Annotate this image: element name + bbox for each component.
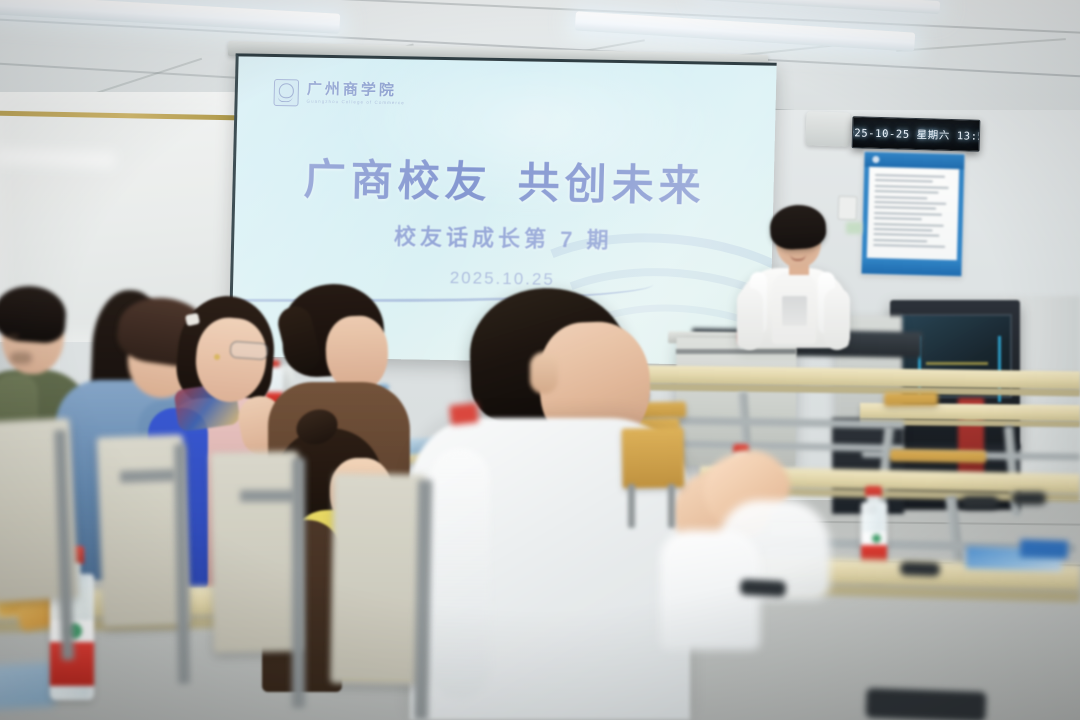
slide-title-left: 广商校友 [303, 156, 492, 206]
blue-item [1020, 539, 1069, 559]
facial-hair [10, 352, 32, 364]
desk-foot [740, 579, 787, 597]
wall-sign [846, 222, 862, 234]
slide-title-right: 共创未来 [517, 159, 706, 209]
wooden-chair-seat [890, 449, 986, 463]
bottle-logo [872, 534, 881, 543]
presenter-arm [824, 288, 850, 350]
desk-foot [866, 688, 987, 720]
wooden-chair-back [884, 392, 938, 406]
wall-poster [860, 151, 965, 278]
slide-title: 广商校友共创未来 [235, 144, 774, 214]
chair-back [330, 473, 426, 685]
desk-foot [962, 496, 998, 509]
poster-border [862, 167, 869, 258]
poster-border [957, 169, 964, 260]
blue-item [0, 662, 55, 710]
chair-back [210, 451, 301, 653]
led-clock-text: 2025-10-25 星期六 13:54 [852, 124, 981, 143]
clock-bracket [805, 111, 850, 147]
school-name-cn: 广州商学院 [307, 82, 406, 99]
classroom-photo: 广州商学院 Guangzhou College of Commerce 广商校友… [0, 0, 1080, 720]
ear [530, 352, 558, 394]
wooden-chair [621, 427, 684, 488]
desk-foot [1012, 492, 1046, 505]
chair-leg [628, 484, 635, 528]
presenter-hair [769, 204, 827, 251]
chair-leg [668, 484, 675, 528]
desk-foot [900, 561, 940, 576]
shirt-fold [430, 448, 490, 698]
led-clock-display: 2025-10-25 星期六 13:54 [852, 116, 981, 152]
chair-arm [120, 469, 176, 483]
school-name-en: Guangzhou College of Commerce [307, 100, 405, 106]
school-crest-icon [273, 79, 299, 106]
poster-footer [861, 258, 961, 277]
wall-socket [838, 196, 858, 221]
presenter-tshirt-print [782, 296, 807, 326]
ceiling-rib [896, 38, 1066, 52]
cabinet-cable [926, 362, 988, 365]
eyeglasses [229, 341, 268, 361]
red-accent [449, 403, 479, 426]
presenter-arm [737, 288, 763, 350]
lectern-trim [676, 349, 796, 354]
school-logo: 广州商学院 Guangzhou College of Commerce [273, 79, 405, 108]
eye [8, 334, 19, 338]
poster-text-lines [873, 174, 955, 252]
chair-arm [240, 490, 296, 502]
earring [214, 354, 220, 360]
poster-header [864, 152, 964, 170]
